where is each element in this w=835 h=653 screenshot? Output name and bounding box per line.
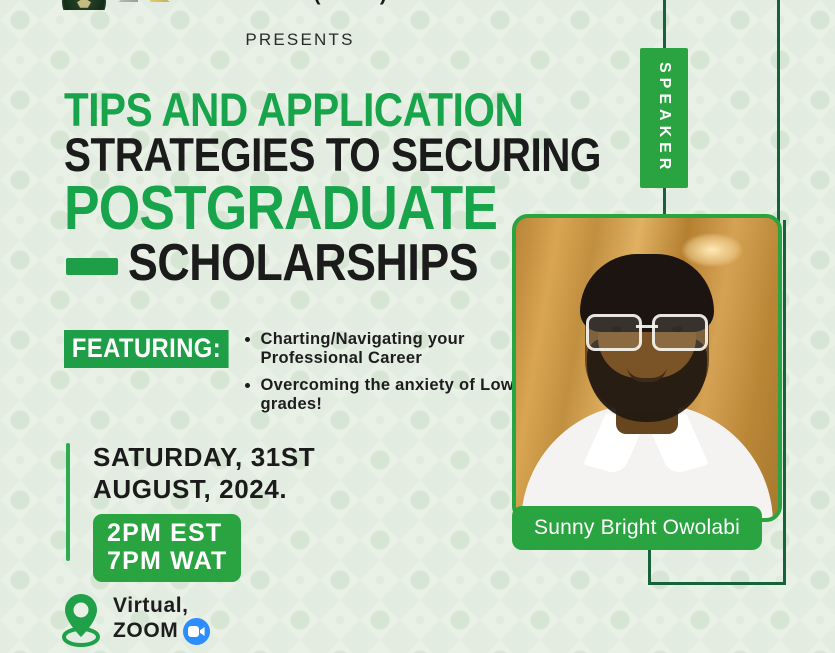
title-line-2: STRATEGIES TO SECURING bbox=[64, 133, 511, 176]
date-time-block: SATURDAY, 31ST AUGUST, 2024. 2PM EST 7PM… bbox=[93, 442, 315, 582]
featuring-section: FEATURING: Charting/Navigating your Prof… bbox=[64, 330, 535, 422]
title-line-1: TIPS AND APPLICATION bbox=[64, 88, 511, 131]
title-line-3: POSTGRADUATE bbox=[64, 180, 511, 237]
header-ornament-left-icon bbox=[118, 0, 138, 2]
speaker-tab: SPEAKER bbox=[640, 48, 688, 188]
event-flyer: ENGINEERS (NSCE) UNILORIN CHAPTER PRESEN… bbox=[0, 0, 835, 653]
featuring-item: Overcoming the anxiety of Low grades! bbox=[243, 376, 535, 415]
date-accent-rule bbox=[66, 443, 70, 561]
location-pin-icon bbox=[58, 592, 104, 648]
venue-line-1: Virtual, bbox=[113, 594, 210, 618]
speaker-name: Sunny Bright Owolabi bbox=[534, 516, 740, 540]
featuring-label: FEATURING: bbox=[64, 330, 229, 368]
organization-name: ENGINEERS (NSCE) UNILORIN CHAPTER bbox=[182, 0, 605, 6]
featuring-list: Charting/Navigating your Professional Ca… bbox=[243, 330, 535, 422]
glasses-lens-right bbox=[652, 314, 708, 351]
title-dash-accent bbox=[66, 258, 118, 275]
date-line-1: SATURDAY, 31ST bbox=[93, 442, 315, 474]
glasses-lens-left bbox=[586, 314, 642, 351]
header-ornament-right-icon bbox=[150, 0, 170, 2]
venue-line-2-row: ZOOM bbox=[113, 618, 210, 645]
organization-seal-icon bbox=[62, 0, 106, 10]
speaker-photo bbox=[512, 214, 782, 522]
zoom-video-camera-icon bbox=[183, 618, 210, 645]
speaker-tab-label: SPEAKER bbox=[655, 62, 673, 174]
venue-section: Virtual, ZOOM bbox=[58, 592, 210, 648]
speaker-frame-right-line bbox=[777, 0, 780, 224]
venue-text: Virtual, ZOOM bbox=[113, 592, 210, 645]
speaker-glasses-icon bbox=[586, 314, 708, 346]
presents-label: PRESENTS bbox=[0, 30, 600, 50]
time-line-2: 7PM WAT bbox=[107, 547, 227, 575]
title-line-4: SCHOLARSHIPS bbox=[128, 240, 478, 288]
title-line-4-row: SCHOLARSHIPS bbox=[64, 240, 584, 288]
featuring-item: Charting/Navigating your Professional Ca… bbox=[243, 330, 535, 369]
date-line-2: AUGUST, 2024. bbox=[93, 474, 315, 506]
photo-lamp-highlight bbox=[681, 233, 743, 267]
time-badge: 2PM EST 7PM WAT bbox=[93, 514, 241, 582]
title-block: TIPS AND APPLICATION STRATEGIES TO SECUR… bbox=[64, 88, 584, 287]
organization-header: ENGINEERS (NSCE) UNILORIN CHAPTER bbox=[0, 0, 835, 10]
time-line-1: 2PM EST bbox=[107, 519, 227, 547]
venue-line-2: ZOOM bbox=[113, 619, 178, 643]
speaker-name-plate: Sunny Bright Owolabi bbox=[512, 506, 762, 550]
